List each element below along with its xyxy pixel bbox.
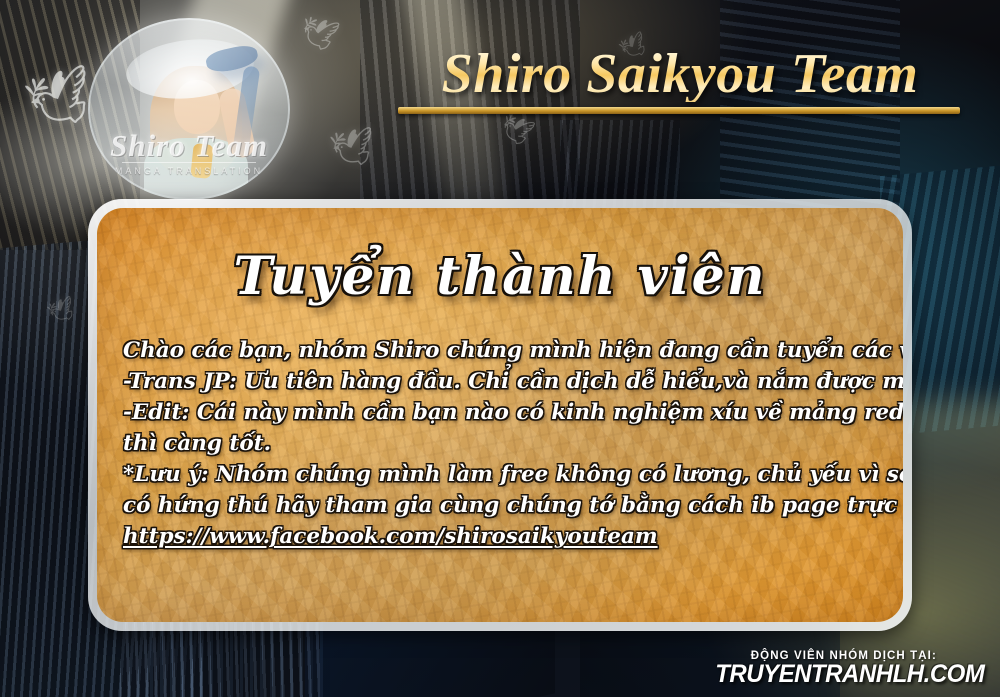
recruitment-heading: Tuyển thành viên bbox=[123, 248, 877, 305]
poster-page: 🕊 🕊 🕊 🕊 🕊 🕊 Shiro Team MANGA TRANSLATION… bbox=[0, 0, 1000, 697]
body-line: -Edit: Cái này mình cần bạn nào có kinh … bbox=[123, 397, 877, 428]
page-title: Shiro Saikyou Team bbox=[380, 46, 980, 102]
body-line: *Lưu ý: Nhóm chúng mình làm free không c… bbox=[123, 459, 877, 490]
recruitment-panel: Tuyển thành viên Chào các bạn, nhóm Shir… bbox=[97, 208, 903, 622]
body-line: Chào các bạn, nhóm Shiro chúng mình hiện… bbox=[123, 335, 877, 366]
logo-subtitle: MANGA TRANSLATION bbox=[88, 166, 290, 176]
body-line: thì càng tốt. bbox=[123, 428, 877, 459]
footer-site-name: TRUYENTRANHLH.COM bbox=[715, 660, 984, 689]
logo-divider bbox=[122, 162, 256, 163]
recruitment-body: Chào các bạn, nhóm Shiro chúng mình hiện… bbox=[123, 335, 877, 552]
background-building bbox=[720, 0, 900, 230]
body-line: -Trans JP: Ưu tiên hàng đầu. Chỉ cần dịc… bbox=[123, 366, 877, 397]
title-underline bbox=[398, 107, 960, 114]
body-line: có hứng thú hãy tham gia cùng chúng tớ b… bbox=[123, 490, 877, 521]
footer-credit: ĐỘNG VIÊN NHÓM DỊCH TẠI: TRUYENTRANHLH.C… bbox=[704, 650, 984, 689]
recruitment-panel-frame: Tuyển thành viên Chào các bạn, nhóm Shir… bbox=[88, 199, 912, 631]
circular-logo-icon: Shiro Team MANGA TRANSLATION bbox=[88, 18, 290, 200]
recruitment-panel-content: Tuyển thành viên Chào các bạn, nhóm Shir… bbox=[97, 208, 903, 622]
logo-title: Shiro Team bbox=[88, 128, 290, 164]
facebook-link[interactable]: https://www.facebook.com/shirosaikyoutea… bbox=[123, 521, 877, 552]
